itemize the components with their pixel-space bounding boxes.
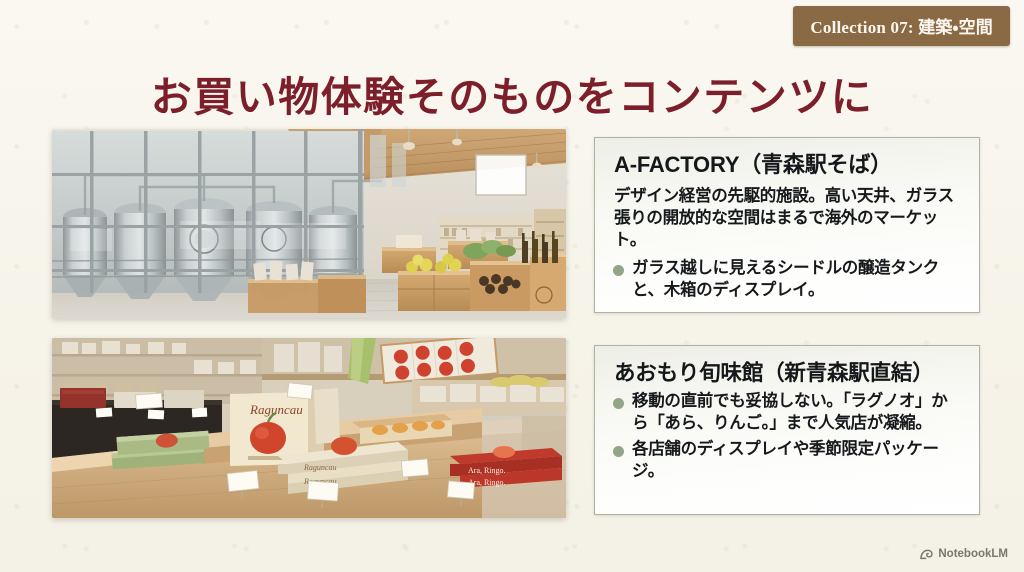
page-title: お買い物体験そのものをコンテンツに [0, 75, 1024, 121]
bullet-item: 各店舗のディスプレイや季節限定パッケージ。 [611, 439, 963, 483]
photo-aomori-shunmikan-display: Raguncau Raguncau Raguncau Ara, Ringo. A… [52, 338, 566, 518]
notebooklm-watermark: NotebookLM [920, 548, 1008, 560]
bullet-item: ガラス越しに見えるシードルの醸造タンクと、木箱のディスプレイ。 [611, 258, 963, 302]
svg-text:Ara, Ringo.: Ara, Ringo. [468, 466, 506, 475]
card-title-aomori-shunmikan: あおもり旬味館（新青森駅直結） [614, 360, 963, 386]
info-card-aomori-shunmikan: あおもり旬味館（新青森駅直結） 移動の直前でも妥協しない。「ラグノオ」から「あら… [594, 345, 980, 515]
bullet-dot-icon [613, 398, 624, 409]
photo-a-factory-interior [52, 129, 566, 318]
info-card-a-factory: A-FACTORY（青森駅そば） デザイン経営の先駆的施設。高い天井、ガラス張り… [594, 137, 980, 313]
bullet-item: 移動の直前でも妥協しない。「ラグノオ」から「あら、りんご。」まで人気店が凝縮。 [611, 391, 963, 435]
notebooklm-label: NotebookLM [938, 548, 1008, 560]
collection-badge: Collection 07: 建築・空間 [793, 6, 1010, 46]
card-bullets-aomori-shunmikan: 移動の直前でも妥協しない。「ラグノオ」から「あら、りんご。」まで人気店が凝縮。 … [611, 391, 963, 483]
card-bullets-a-factory: ガラス越しに見えるシードルの醸造タンクと、木箱のディスプレイ。 [611, 258, 963, 302]
shunmikan-display-illustration: Raguncau Raguncau Raguncau Ara, Ringo. A… [52, 338, 566, 518]
notebooklm-logo-icon [920, 549, 933, 560]
bullet-text: 移動の直前でも妥協しない。「ラグノオ」から「あら、りんご。」まで人気店が凝縮。 [632, 391, 963, 435]
bullet-dot-icon [613, 446, 624, 457]
bullet-text: 各店舗のディスプレイや季節限定パッケージ。 [632, 439, 963, 483]
a-factory-interior-illustration [52, 129, 566, 318]
bullet-dot-icon [613, 265, 624, 276]
svg-text:Raguncau: Raguncau [303, 463, 336, 472]
bullet-text: ガラス越しに見えるシードルの醸造タンクと、木箱のディスプレイ。 [632, 258, 963, 302]
card-lead-a-factory: デザイン経営の先駆的施設。高い天井、ガラス張りの開放的な空間はまるで海外のマーケ… [614, 186, 963, 252]
card-title-a-factory: A-FACTORY（青森駅そば） [614, 152, 963, 179]
svg-text:Raguncau: Raguncau [249, 402, 303, 417]
